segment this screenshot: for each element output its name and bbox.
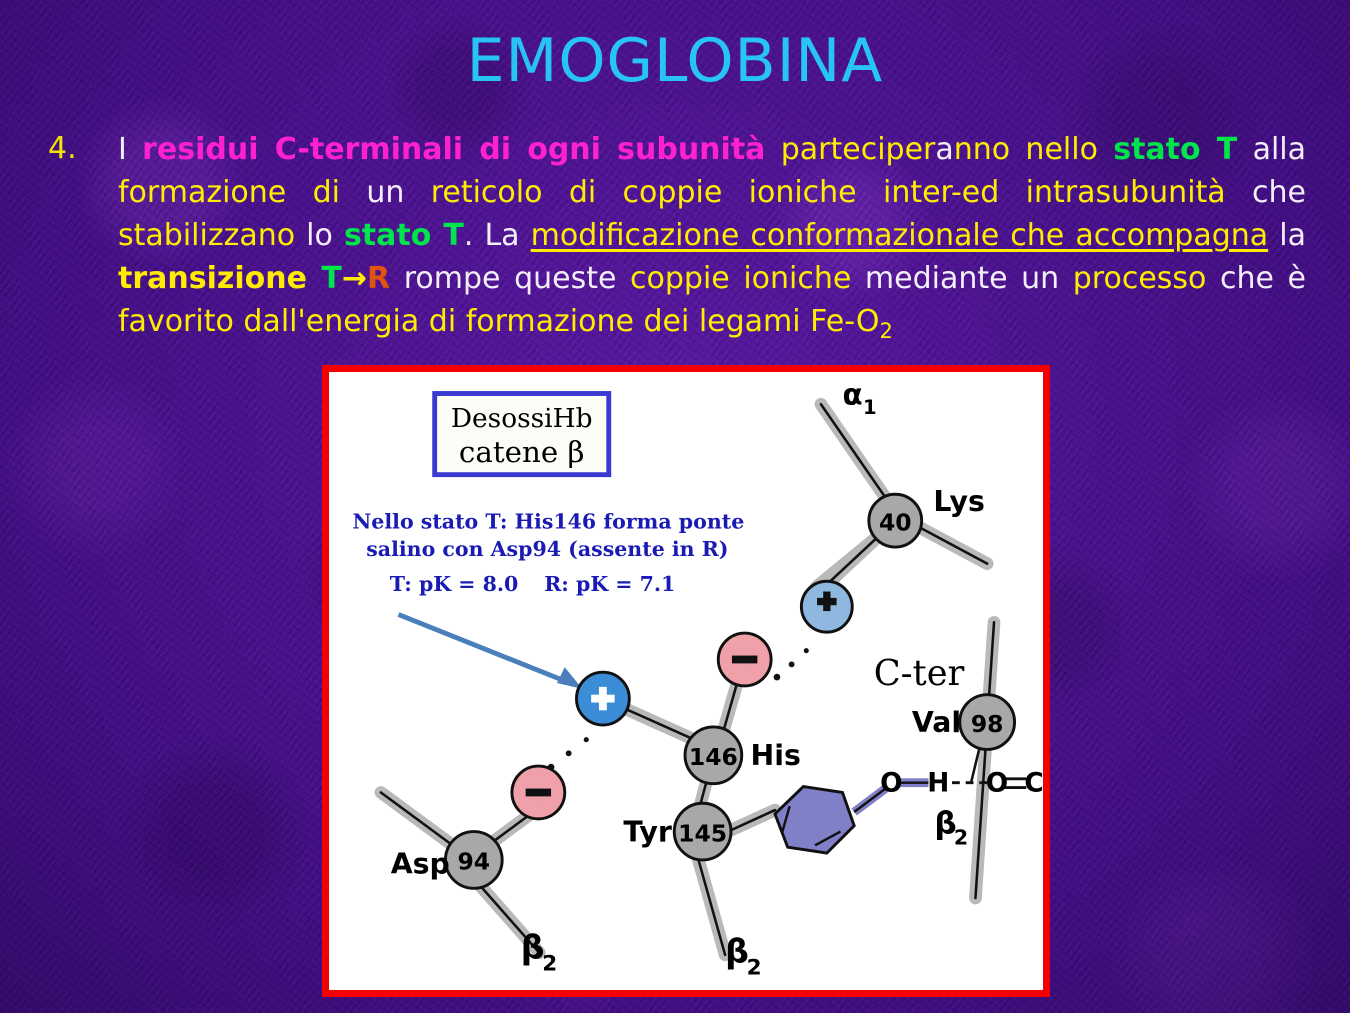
paragraph-segment: un	[340, 175, 431, 210]
residue-number-tyr145: 145	[678, 819, 727, 847]
chain-label-beta2-bottom-left: β 2	[521, 928, 557, 977]
paragraph-segment: che è	[1220, 261, 1306, 296]
annotation-line-1: Nello stato T: His146 forma ponte	[353, 509, 745, 533]
legend-box: DesossiHb catene β	[435, 394, 609, 475]
ionic-interaction-dots-lower	[548, 737, 589, 770]
paragraph-segment: dall'energia	[243, 304, 428, 339]
paragraph-segment: nno nello	[954, 132, 1113, 167]
paragraph-segment: I	[118, 132, 142, 167]
chain-label-alpha1: α 1	[842, 377, 876, 419]
page-title: EMOGLOBINA	[0, 30, 1350, 93]
paragraph-segment: ed intrasubunità	[962, 175, 1226, 210]
chain-label-beta2-bc-sub: 2	[747, 955, 762, 980]
paragraph-segment: →	[342, 261, 367, 296]
negative-charge-circle-cter: −	[718, 633, 771, 686]
bullet-paragraph-block: 4. I residui C-terminali di ogni subunit…	[48, 128, 1306, 353]
paragraph-segment: residui C-terminali di ogni subunità	[142, 132, 765, 167]
residue-node-val98: 98 Val	[912, 695, 1015, 750]
negative-charge-circle-asp94: −	[512, 766, 565, 819]
bond-alpha1-to-lys40	[821, 404, 893, 509]
paragraph-segment: mediante un	[865, 261, 1059, 296]
paragraph-segment	[765, 132, 780, 167]
bond-val98-chain	[975, 622, 994, 898]
residue-name-his146: His	[751, 739, 801, 772]
chain-label-beta2-bl-base: β	[521, 928, 545, 967]
paragraph-segment: la	[1268, 218, 1306, 253]
positive-charge-circle-his146: +	[576, 672, 629, 725]
annotation-line-3-left: T: pK = 8.0	[390, 572, 519, 596]
hemoglobin-salt-bridge-figure: .bondOut{stroke:#b9b9b9;stroke-width:13;…	[322, 365, 1050, 997]
annotation-line-2: salino con Asp94 (assente in R)	[366, 537, 728, 561]
annotation-text-block: Nello stato T: His146 forma ponte salino…	[353, 509, 745, 596]
hbond-atom-O-left: O	[880, 767, 902, 798]
residue-number-val98: 98	[971, 710, 1004, 738]
paragraph-segment: queste	[514, 261, 616, 296]
paragraph-segment: reticolo di coppie ioniche inter-	[431, 175, 962, 210]
chain-label-beta2-bc-base: β	[725, 932, 749, 971]
chain-label-beta2-right-sub: 2	[954, 825, 968, 849]
hbond-atom-C: C	[1024, 767, 1043, 798]
paragraph-segment: T	[321, 261, 341, 296]
residue-name-tyr145: Tyr	[623, 815, 671, 848]
paragraph-segment: favorito	[118, 304, 243, 339]
paragraph-segment: stato T	[344, 218, 464, 253]
residue-node-his146: 146 His	[685, 727, 801, 784]
residue-name-lys40: Lys	[933, 485, 984, 518]
bullet-number: 4.	[48, 131, 94, 166]
paragraph-segment: che	[1226, 175, 1306, 210]
chain-label-alpha1-base: α	[842, 377, 862, 411]
residue-name-val98: Val	[912, 706, 961, 739]
chain-label-alpha1-sub: 1	[863, 396, 877, 419]
annotation-line-3-right: R: pK = 7.1	[544, 572, 675, 596]
positive-charge-circle-top: +	[801, 581, 852, 632]
paragraph-segment: rompe	[390, 261, 514, 296]
chain-label-beta2-bl-sub: 2	[542, 951, 557, 976]
residue-number-asp94: 94	[457, 848, 490, 876]
paragraph-segment: 2	[880, 319, 893, 343]
chain-label-beta2-bottom-center: β 2	[725, 932, 761, 981]
tyrosine-phenol-ring	[775, 787, 854, 853]
ionic-interaction-dots-upper	[774, 648, 809, 680]
residue-name-asp94: Asp	[391, 848, 450, 881]
paragraph-segment: alla	[1237, 132, 1306, 167]
paragraph-segment: transizione	[118, 261, 321, 296]
paragraph-segment: lo	[295, 218, 344, 253]
paragraph-segment: . La	[464, 218, 531, 253]
paragraph-segment: stabilizzano	[118, 218, 295, 253]
paragraph-segment: formazione di	[118, 175, 340, 210]
paragraph-segment: a	[935, 132, 953, 167]
hbond-atom-H: H	[927, 767, 949, 798]
paragraph-segment: R	[367, 261, 390, 296]
chain-label-beta2-right: β 2	[934, 806, 968, 850]
paragraph-segment: parteciper	[781, 132, 936, 167]
paragraph-segment: modificazione conformazionale che accomp…	[531, 218, 1269, 253]
hbond-atom-O-right: O	[986, 767, 1008, 798]
paragraph-segment: processo	[1059, 261, 1220, 296]
bond-asp94-branch-upleft	[381, 792, 455, 847]
paragraph-segment: di formazione dei legami Fe-O	[429, 304, 880, 339]
bullet-paragraph-text: I residui C-terminali di ogni subunità p…	[118, 128, 1306, 353]
annotation-arrow-icon	[399, 615, 583, 689]
residue-number-his146: 146	[689, 743, 738, 771]
residue-node-tyr145: 145 Tyr	[623, 803, 731, 860]
residue-number-lys40: 40	[879, 508, 912, 536]
legend-line-2: catene β	[459, 435, 585, 469]
legend-line-1: DesossiHb	[451, 403, 593, 434]
c-terminus-label: C-ter	[874, 653, 965, 694]
paragraph-segment: coppie ioniche	[616, 261, 864, 296]
paragraph-segment: stato T	[1113, 132, 1237, 167]
